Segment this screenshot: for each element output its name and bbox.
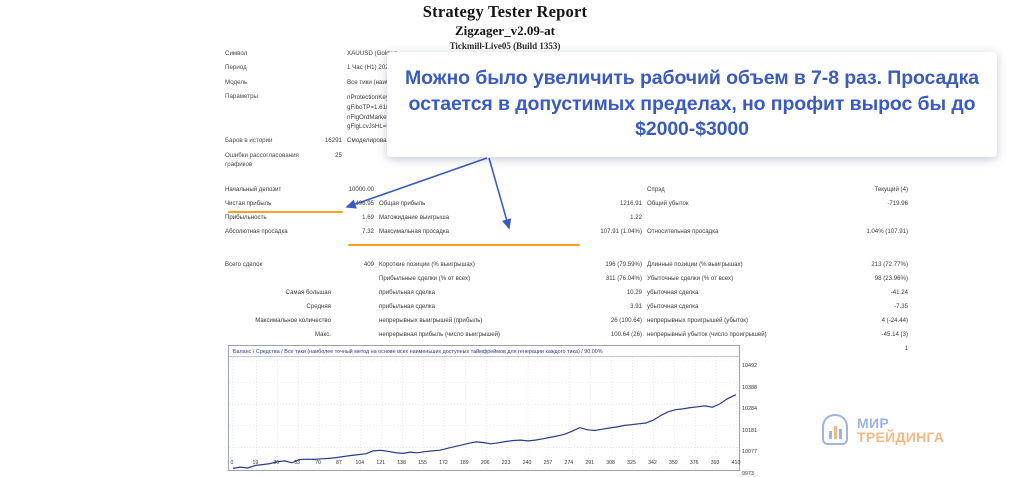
- info-label: Символ: [225, 50, 313, 59]
- chart-line-Баланс: [233, 395, 736, 469]
- stat-value-3: -7.35: [807, 303, 912, 310]
- stat-value-3: 98 (23.96%): [807, 275, 912, 282]
- stat-value-2: 1216.91: [547, 200, 647, 207]
- stat-label-3: непрерывный убыток (число проигрышей): [647, 331, 807, 339]
- stat-value-3: 1.04% (107.91): [807, 228, 912, 235]
- stat-value-3: -41.24: [807, 289, 912, 296]
- x-tick-label: 206: [481, 460, 490, 466]
- x-tick-label: 291: [585, 460, 594, 466]
- stat-value-2: 100.64 (26): [547, 331, 647, 338]
- x-tick-label: 87: [336, 460, 342, 466]
- logo-line-1: МИР: [857, 416, 944, 430]
- stat-label-2: Общая прибыль: [379, 200, 547, 208]
- stat-label-1: Макс.: [225, 331, 335, 339]
- x-tick-label: 274: [564, 460, 573, 466]
- stat-label-1: Средняя: [225, 303, 335, 311]
- x-tick-label: 121: [376, 460, 385, 466]
- stats-row: Средняяприбыльная сделка3.91убыточная сд…: [225, 303, 1015, 317]
- x-tick-label: 70: [315, 460, 321, 466]
- y-tick-label: 9973: [742, 471, 754, 477]
- stat-label-1: Абсолютная просадка: [225, 228, 335, 236]
- stats-row: Прибыльность1.69Матожидание выигрыша1.22: [225, 214, 1015, 228]
- stat-value-3: Текущий (4): [807, 186, 912, 193]
- stat-label-3: убыточная сделка: [647, 289, 807, 297]
- x-tick-label: 240: [523, 460, 532, 466]
- stat-label-3: Относительная просадка: [647, 228, 807, 236]
- stats-row: Абсолютная просадка7.32Максимальная прос…: [225, 228, 1015, 247]
- stat-label-1: Чистая прибыль: [225, 200, 335, 208]
- stats-row: Начальный депозит10000.00СпрэдТекущий (4…: [225, 186, 1015, 200]
- x-tick-label: 342: [648, 460, 657, 466]
- y-tick-label: 10181: [742, 428, 757, 434]
- stat-value-2: 107.91 (1.04%): [547, 228, 647, 235]
- x-tick-label: 410: [732, 460, 741, 466]
- stat-value-3: -719.96: [807, 200, 912, 207]
- x-tick-label: 393: [711, 460, 720, 466]
- stat-value-3: 4 (-24.44): [807, 317, 912, 324]
- stats-row: Максимальное количествонепрерывных выигр…: [225, 317, 1015, 331]
- stats-row: Макс.непрерывная прибыль (число выигрыше…: [225, 331, 1015, 345]
- stat-label-2: прибыльная сделка: [379, 289, 547, 297]
- page-title: Strategy Tester Report: [225, 2, 785, 22]
- stat-value-2: 26 (100.64): [547, 317, 647, 324]
- x-tick-label: 376: [690, 460, 699, 466]
- stat-value-2: 1.22: [547, 214, 647, 221]
- stat-value-3: -45.14 (3): [807, 331, 912, 338]
- balance-equity-chart: Баланс / Средства / Все тики (наиболее т…: [228, 345, 740, 471]
- stat-label-2: Максимальная просадка: [379, 228, 547, 236]
- stat-label-2: Прибыльные сделки (% от всех): [379, 275, 547, 283]
- stat-label-2: прибыльная сделка: [379, 303, 547, 311]
- x-tick-label: 19: [252, 460, 258, 466]
- stat-label-2: непрерывная прибыль (число выигрышей): [379, 331, 547, 339]
- stats-row: Прибыльные сделки (% от всех)311 (76.04%…: [225, 275, 1015, 289]
- x-tick-label: 53: [294, 460, 300, 466]
- stat-label-3: Убыточные сделки (% от всех): [647, 275, 807, 283]
- stats-row: Всего сделок409Короткие позиции (% выигр…: [225, 261, 1015, 275]
- report-title-block: Strategy Tester Report Zigzager_v2.09-at…: [225, 0, 785, 51]
- logo-text: МИР ТРЕЙДИНГА: [857, 416, 944, 445]
- stat-value-2: 311 (76.04%): [547, 275, 647, 282]
- stat-value-1: 1.69: [335, 214, 379, 221]
- chart-y-axis: 10492103881028410181100779973: [742, 352, 782, 464]
- chart-bars-logo-icon: [820, 414, 850, 446]
- x-tick-label: 104: [356, 460, 365, 466]
- y-tick-label: 10388: [742, 385, 757, 391]
- annotation-callout: Можно было увеличить рабочий объем в 7-8…: [387, 52, 997, 157]
- stat-value-3: 1: [807, 345, 912, 352]
- stat-label-2: Короткие позиции (% выигрышах): [379, 261, 547, 269]
- info-label: Период: [225, 64, 313, 73]
- info-number: 25: [313, 152, 347, 159]
- info-label: Баров в истории: [225, 137, 313, 146]
- report-statistics-table: Начальный депозит10000.00СпрэдТекущий (4…: [225, 186, 1015, 359]
- chart-svg: [229, 357, 739, 471]
- stat-value-1: 7.32: [335, 228, 379, 235]
- stat-value-3: 213 (72.77%): [807, 261, 912, 268]
- stat-label-1: Максимальное количество: [225, 317, 335, 325]
- stat-label-3: Общий убыток: [647, 200, 807, 208]
- chart-x-axis: 0193653708710412113815517218920622324025…: [228, 460, 740, 472]
- stats-row: Чистая прибыль496.95Общая прибыль1216.91…: [225, 200, 1015, 214]
- logo-line-2: ТРЕЙДИНГА: [857, 430, 944, 444]
- stat-label-3: убыточная сделка: [647, 303, 807, 311]
- stats-row: Самая большаяприбыльная сделка10.29убыто…: [225, 289, 1015, 303]
- stat-value-1: 10000.00: [335, 186, 379, 193]
- y-tick-label: 10284: [742, 406, 757, 412]
- stat-label-2: Матожидание выигрыша: [379, 214, 547, 222]
- stat-label-3: Спрэд: [647, 186, 807, 194]
- stat-label-2: непрерывных выигрышей (прибыль): [379, 317, 547, 325]
- info-label: Модель: [225, 79, 313, 88]
- stat-label-3: Длинные позиции (% выигрышах): [647, 261, 807, 269]
- x-tick-label: 172: [439, 460, 448, 466]
- stats-row: [225, 247, 1015, 261]
- x-tick-label: 308: [606, 460, 615, 466]
- x-tick-label: 359: [669, 460, 678, 466]
- info-label: Ошибки рассогласования графиков: [225, 152, 313, 170]
- stat-value-2: 10.29: [547, 289, 647, 296]
- x-tick-label: 257: [544, 460, 553, 466]
- x-tick-label: 155: [418, 460, 427, 466]
- y-tick-label: 10077: [742, 449, 757, 455]
- report-subtitle: Zigzager_v2.09-at: [225, 23, 785, 39]
- callout-text: Можно было увеличить рабочий объем в 7-8…: [403, 66, 981, 144]
- x-tick-label: 325: [627, 460, 636, 466]
- stat-value-1: 496.95: [335, 200, 379, 207]
- stat-label-1: Всего сделок: [225, 261, 335, 269]
- x-tick-label: 0: [231, 460, 234, 466]
- stat-label-1: Самая большая: [225, 289, 335, 297]
- stat-value-2: 196 (79.59%): [547, 261, 647, 268]
- watermark-logo: МИР ТРЕЙДИНГА: [820, 406, 1010, 454]
- x-tick-label: 223: [502, 460, 511, 466]
- x-tick-label: 189: [460, 460, 469, 466]
- info-label: Параметры: [225, 93, 313, 102]
- stat-value-1: 409: [335, 261, 379, 268]
- chart-caption: Баланс / Средства / Все тики (наиболее т…: [229, 346, 739, 357]
- y-tick-label: 10492: [742, 363, 757, 369]
- stat-value-2: 3.91: [547, 303, 647, 310]
- chart-plot-area: [229, 357, 739, 471]
- stat-label-1: Начальный депозит: [225, 186, 335, 194]
- stat-label-3: непрерывных проигрышей (убыток): [647, 317, 807, 325]
- x-tick-label: 36: [273, 460, 279, 466]
- stat-label-1: Прибыльность: [225, 214, 335, 222]
- info-number: 16291: [313, 137, 347, 144]
- x-tick-label: 138: [397, 460, 406, 466]
